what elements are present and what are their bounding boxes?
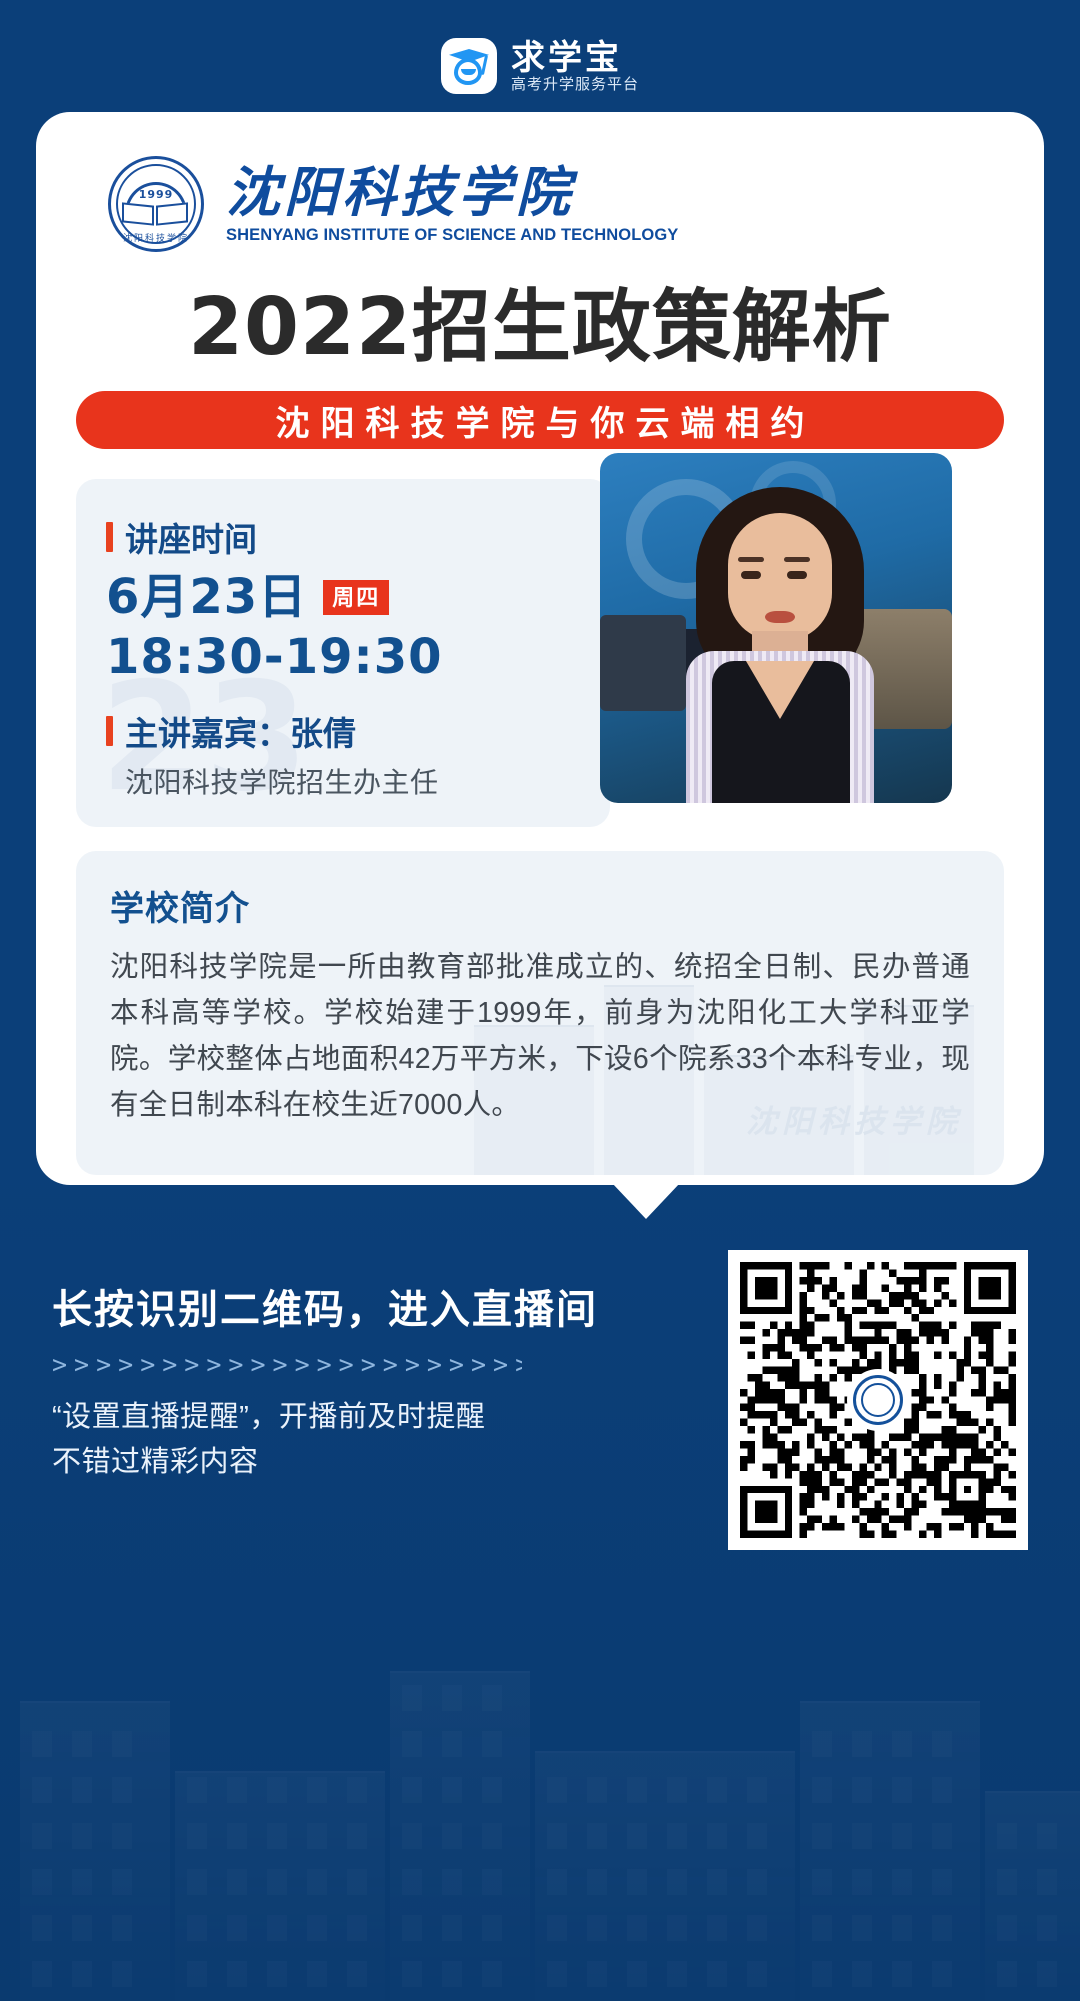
qr-center-crest-icon [847, 1369, 909, 1431]
cta-subtext-line2: 不错过精彩内容 [52, 1440, 532, 1485]
page-title: 2022招生政策解析 [76, 288, 1004, 367]
session-date-line: 6月23日 周四 [106, 571, 580, 624]
school-name-cn: 沈阳科技学院 [226, 165, 678, 221]
session-date: 6月23日 [106, 571, 307, 624]
school-crest-icon: 1999 沈阳科技学院 [108, 156, 204, 252]
cta-subtext-line1: “设置直播提醒”，开播前及时提醒 [52, 1395, 532, 1440]
cta-title: 长按识别二维码，进入直播间 [52, 1286, 728, 1334]
weekday-badge: 周四 [323, 580, 389, 616]
school-intro-body: 沈阳科技学院是一所由教育部批准成立的、统招全日制、民办普通本科高等学校。学校始建… [110, 944, 970, 1129]
arrow-divider: >>>>>>>>>>>>>>>>>>>>>>>>>>>>> [52, 1352, 522, 1377]
graduation-cap-avatar-icon [441, 38, 497, 94]
speaker-photo [600, 453, 952, 803]
session-row: 23 讲座时间 6月23日 周四 18:30-19:30 主讲嘉宾：张倩 沈阳科… [76, 479, 1004, 827]
school-intro-panel: 沈阳科技学院 学校简介 沈阳科技学院是一所由教育部批准成立的、统招全日制、民办普… [76, 851, 1004, 1175]
school-intro-title: 学校简介 [110, 881, 970, 930]
qr-code[interactable] [728, 1250, 1028, 1550]
speaker-title: 沈阳科技学院招生办主任 [125, 761, 580, 801]
card-pointer [612, 1183, 680, 1219]
app-header: 求学宝 高考升学服务平台 [0, 38, 1080, 94]
session-time-range: 18:30-19:30 [106, 630, 580, 685]
school-identity: 1999 沈阳科技学院 沈阳科技学院 SHENYANG INSTITUTE OF… [76, 156, 1004, 252]
crest-year: 1999 [108, 188, 204, 201]
cta-section: 长按识别二维码，进入直播间 >>>>>>>>>>>>>>>>>>>>>>>>>>… [0, 1250, 1080, 1670]
crest-bottom-text: 沈阳科技学院 [108, 231, 204, 244]
cta-subtext: “设置直播提醒”，开播前及时提醒 不错过精彩内容 [52, 1395, 532, 1485]
app-name: 求学宝 [511, 41, 639, 75]
session-time-label: 讲座时间 [106, 513, 580, 561]
subtitle-ribbon: 沈阳科技学院与你云端相约 [76, 391, 1004, 449]
speaker-label: 主讲嘉宾：张倩 [106, 707, 580, 755]
app-tagline: 高考升学服务平台 [511, 77, 639, 92]
poster-card: 1999 沈阳科技学院 沈阳科技学院 SHENYANG INSTITUTE OF… [36, 112, 1044, 1185]
session-info-panel: 23 讲座时间 6月23日 周四 18:30-19:30 主讲嘉宾：张倩 沈阳科… [76, 479, 610, 827]
school-name-en: SHENYANG INSTITUTE OF SCIENCE AND TECHNO… [226, 227, 678, 244]
